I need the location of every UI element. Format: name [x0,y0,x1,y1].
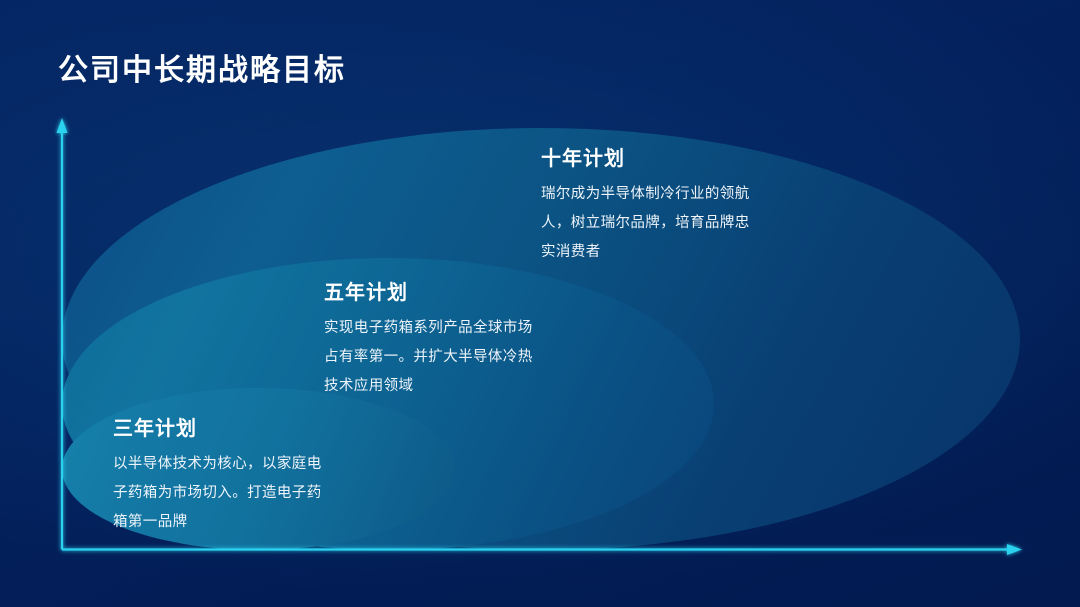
plan-line: 占有率第一。并扩大半导体冷热 [324,343,574,372]
plan-block-three-year: 三年计划 以半导体技术为核心，以家庭电 子药箱为市场切入。打造电子药 箱第一品牌 [113,412,351,537]
slide-canvas: 公司中长期战略目标 [0,0,1080,607]
plan-heading-ten-year: 十年计划 [541,142,803,171]
plan-line: 以半导体技术为核心，以家庭电 [113,450,351,479]
plan-line: 子药箱为市场切入。打造电子药 [113,479,351,508]
plan-body-ten-year: 瑞尔成为半导体制冷行业的领航 人，树立瑞尔品牌，培育品牌忠 实消费者 [541,180,803,267]
plan-line: 技术应用领域 [324,372,574,401]
plan-body-five-year: 实现电子药箱系列产品全球市场 占有率第一。并扩大半导体冷热 技术应用领域 [324,314,574,401]
plan-line: 实消费者 [541,238,803,267]
plan-block-five-year: 五年计划 实现电子药箱系列产品全球市场 占有率第一。并扩大半导体冷热 技术应用领… [324,276,574,401]
plan-line: 实现电子药箱系列产品全球市场 [324,314,574,343]
strategy-chart: 十年计划 瑞尔成为半导体制冷行业的领航 人，树立瑞尔品牌，培育品牌忠 实消费者 … [0,0,1080,607]
arrow-right-icon [1007,544,1022,555]
plan-heading-three-year: 三年计划 [113,412,351,441]
arrow-up-icon [57,118,68,133]
plan-line: 箱第一品牌 [113,508,351,537]
plan-body-three-year: 以半导体技术为核心，以家庭电 子药箱为市场切入。打造电子药 箱第一品牌 [113,450,351,537]
plan-heading-five-year: 五年计划 [324,276,574,305]
plan-line: 瑞尔成为半导体制冷行业的领航 [541,180,803,209]
plan-line: 人，树立瑞尔品牌，培育品牌忠 [541,209,803,238]
plan-block-ten-year: 十年计划 瑞尔成为半导体制冷行业的领航 人，树立瑞尔品牌，培育品牌忠 实消费者 [541,142,803,267]
